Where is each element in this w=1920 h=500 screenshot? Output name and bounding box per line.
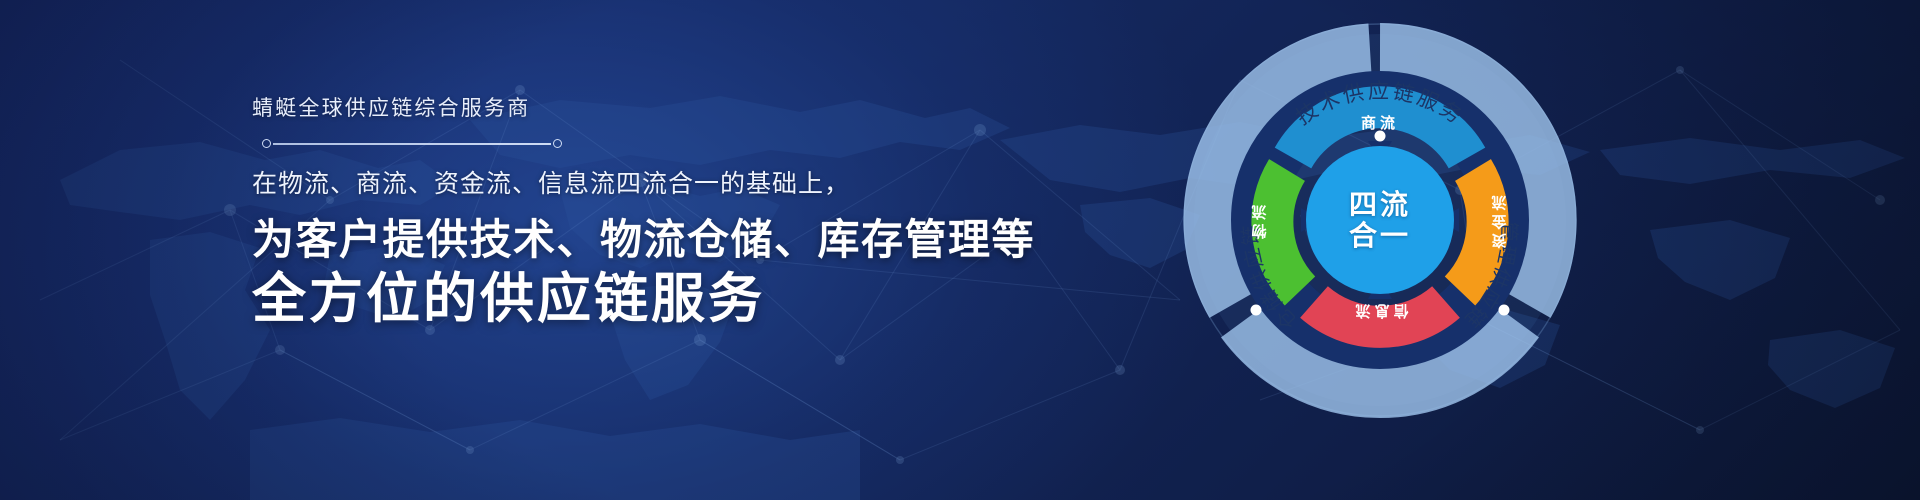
center-circle — [1306, 146, 1454, 294]
dot-bottom-left — [1251, 305, 1262, 316]
segment-label-information: 信息流 — [1351, 302, 1408, 320]
divider-rule — [273, 143, 551, 145]
lead-text: 在物流、商流、资金流、信息流四流合一的基础上， — [252, 168, 1072, 202]
divider-dot-left-icon — [262, 139, 271, 148]
divider-dot-right-icon — [553, 139, 562, 148]
headline-line-1: 为客户提供技术、物流仓储、库存管理等 — [252, 214, 1072, 266]
segment-label-logistics: 物流 — [1252, 201, 1269, 240]
headline-line-2: 全方位的供应链服务 — [252, 268, 1072, 332]
segment-label-business: 商流 — [1361, 114, 1399, 132]
headline-text-block: 蜻蜓全球供应链综合服务商 在物流、商流、资金流、信息流四流合一的基础上， 为客户… — [252, 96, 1072, 332]
four-flows-diagram: 技术供应链服务 物流仓储供应链服务 库存管理供应链服务 商流 资金流 信息流 物… — [1170, 10, 1590, 430]
eyebrow-text: 蜻蜓全球供应链综合服务商 — [252, 96, 1072, 121]
banner-root: 蜻蜓全球供应链综合服务商 在物流、商流、资金流、信息流四流合一的基础上， 为客户… — [0, 0, 1920, 500]
dot-top — [1375, 131, 1386, 142]
segment-label-capital: 资金流 — [1491, 192, 1509, 250]
dot-bottom-right — [1499, 305, 1510, 316]
decorative-divider — [262, 139, 562, 148]
